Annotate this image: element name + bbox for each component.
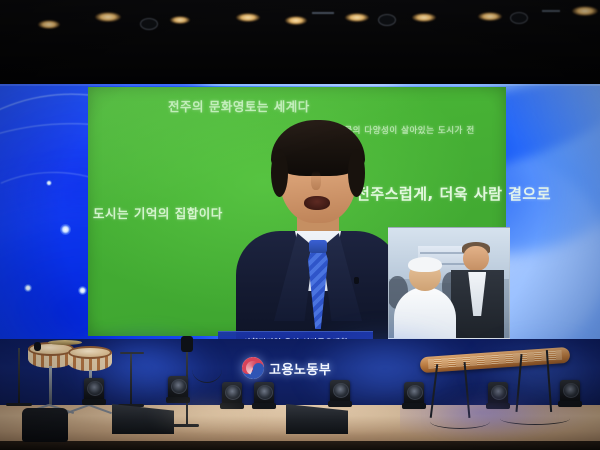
ceiling-fixture-ring-icon <box>510 12 528 24</box>
microphone-stand <box>18 348 20 404</box>
moving-head-light <box>168 376 188 400</box>
speaker-hair-side <box>271 149 288 197</box>
ceiling-light-icon <box>95 12 121 22</box>
ceiling-light-icon <box>170 16 190 24</box>
screen-glow-dot <box>78 286 87 295</box>
cable <box>192 356 222 383</box>
ceiling-light-icon <box>478 12 502 21</box>
moving-head-light <box>404 382 424 406</box>
light-lens-icon <box>563 383 579 398</box>
light-base <box>558 401 582 407</box>
light-base <box>82 399 106 405</box>
ministry-logo: 고용노동부 <box>242 357 331 379</box>
inset-man-head <box>463 246 488 271</box>
ceiling-truss-bar <box>542 10 560 12</box>
moving-head-light <box>330 380 350 404</box>
speaker-hair-side <box>348 149 365 197</box>
projection-screen: 전주의 문화영토는 세계다 생물의 다양성이 살아있는 도시가 전 도시는 기억… <box>0 84 600 339</box>
inset-pope-zucchetto <box>408 257 442 272</box>
ceiling-light-icon <box>345 13 369 22</box>
slide-green-panel: 전주의 문화영토는 세계다 생물의 다양성이 살아있는 도시가 전 도시는 기억… <box>88 87 506 336</box>
light-lens-icon <box>257 385 273 400</box>
screen-glow-dot <box>60 224 71 235</box>
microphone-icon <box>181 336 193 352</box>
slide-headline: 전주의 문화영토는 세계다 <box>168 96 310 115</box>
drum-stand <box>49 366 52 406</box>
light-lens-icon <box>333 383 349 398</box>
microphone-icon <box>34 342 41 351</box>
ceiling-fixture-ring-icon <box>140 18 158 30</box>
ceiling-fixture-ring-icon <box>378 14 396 26</box>
moving-head-light <box>84 378 104 402</box>
ceiling-area <box>0 0 600 84</box>
speaker-tie-knot <box>309 240 327 253</box>
inset-photo-ceremony <box>388 227 510 339</box>
screen-glow-dot <box>24 284 32 292</box>
ceiling-light-icon <box>236 13 260 22</box>
taegeuk-icon <box>242 357 264 379</box>
light-base <box>328 401 352 407</box>
light-lens-icon <box>225 385 241 400</box>
stage-apron-edge <box>0 441 600 450</box>
light-base <box>252 403 276 409</box>
speaker-mouth <box>304 196 330 210</box>
light-lens-icon <box>407 385 423 400</box>
ceiling-light-icon <box>572 6 598 16</box>
floor-light-pool <box>150 400 260 430</box>
ministry-logo-text: 고용노동부 <box>269 359 331 378</box>
microphone-boom-arm <box>120 352 144 354</box>
inset-pope-robe <box>394 287 456 339</box>
moving-head-light <box>560 380 580 404</box>
microphone-stand <box>130 352 132 406</box>
light-base <box>402 403 426 409</box>
moving-head-light <box>254 382 274 406</box>
floor-light-pool <box>430 398 550 432</box>
ceiling-truss-bar <box>312 12 334 14</box>
speaker-nose <box>311 171 321 190</box>
speaker-portrait <box>238 127 398 339</box>
slide-memory-text: 도시는 기억의 집합이다 <box>93 203 223 222</box>
microphone-stand-base <box>6 403 32 406</box>
screen-glow-dot <box>46 180 52 186</box>
cymbal <box>48 340 82 345</box>
lapel-microphone-icon <box>354 277 359 284</box>
taegeuk-highlight <box>246 361 260 375</box>
light-lens-icon <box>87 381 103 396</box>
ceiling-light-icon <box>38 20 60 29</box>
light-lens-icon <box>171 379 187 394</box>
ceiling-light-icon <box>412 13 436 22</box>
screenshot-root: 전주의 문화영토는 세계다 생물의 다양성이 살아있는 도시가 전 도시는 기억… <box>0 0 600 450</box>
subwoofer <box>22 408 68 442</box>
ceiling-light-icon <box>285 16 307 25</box>
